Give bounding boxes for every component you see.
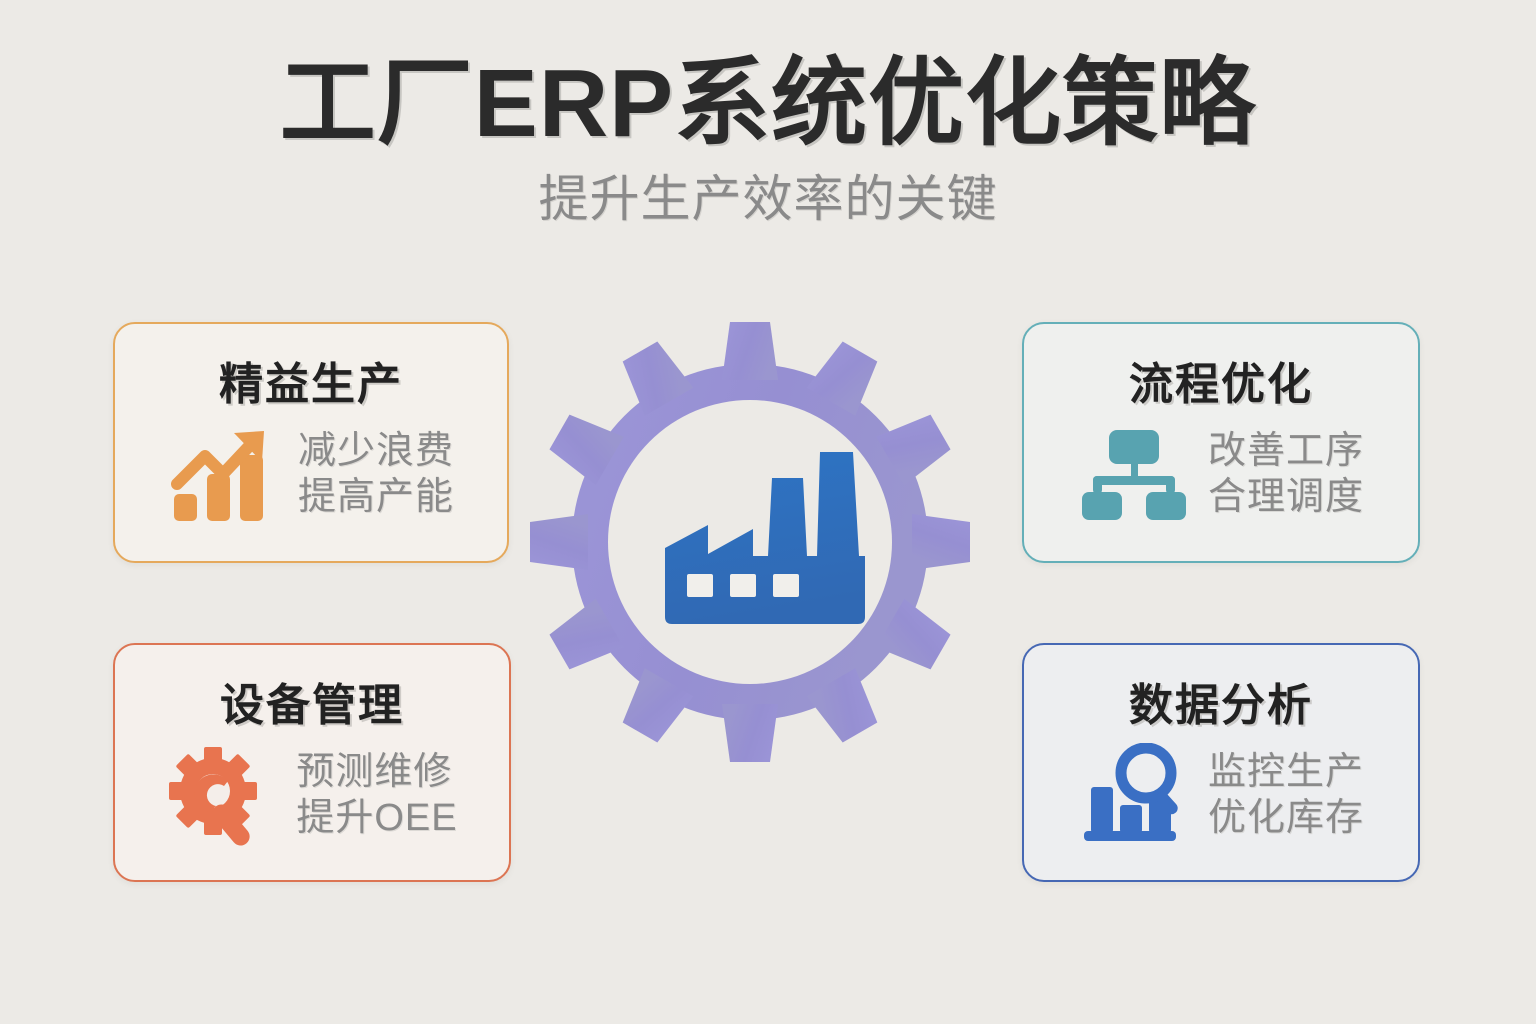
center-graphic — [520, 312, 980, 772]
header: 工厂ERP系统优化策略 提升生产效率的关键 — [0, 0, 1536, 227]
card-title-lean: 精益生产 — [115, 324, 507, 412]
card-title-equipment: 设备管理 — [115, 645, 509, 733]
card-line: 优化库存 — [1208, 795, 1364, 841]
card-title-process: 流程优化 — [1024, 324, 1418, 412]
page-title: 工厂ERP系统优化策略 — [0, 0, 1536, 156]
card-body-analytics: 监控生产 优化库存 — [1024, 733, 1418, 847]
card-lean-production[interactable]: 精益生产 减少浪费 提高产能 — [113, 322, 509, 563]
card-body-equipment: 预测维修 提升OEE — [115, 733, 509, 847]
bar-chart-growth-icon — [168, 422, 280, 526]
card-body-lean: 减少浪费 提高产能 — [115, 412, 507, 526]
card-process-optimization[interactable]: 流程优化 改善工序 合理调度 — [1022, 322, 1420, 563]
card-equipment-management[interactable]: 设备管理 — [113, 643, 511, 882]
bar-chart-magnifier-icon — [1078, 743, 1190, 847]
card-line: 提高产能 — [298, 474, 454, 520]
gear-wrench-icon — [166, 743, 278, 847]
card-line: 减少浪费 — [298, 428, 454, 474]
card-data-analytics[interactable]: 数据分析 监控生产 优化库存 — [1022, 643, 1420, 882]
page-subtitle: 提升生产效率的关键 — [0, 156, 1536, 227]
card-lines-analytics: 监控生产 优化库存 — [1208, 749, 1364, 842]
card-line: 改善工序 — [1208, 428, 1364, 474]
card-lines-equipment: 预测维修 提升OEE — [296, 749, 457, 842]
card-body-process: 改善工序 合理调度 — [1024, 412, 1418, 526]
card-line: 监控生产 — [1208, 749, 1364, 795]
card-line: 提升OEE — [296, 795, 457, 841]
card-line: 预测维修 — [296, 749, 457, 795]
card-lines-lean: 减少浪费 提高产能 — [298, 428, 454, 521]
card-lines-process: 改善工序 合理调度 — [1208, 428, 1364, 521]
card-line: 合理调度 — [1208, 474, 1364, 520]
card-title-analytics: 数据分析 — [1024, 645, 1418, 733]
hierarchy-org-chart-icon — [1078, 422, 1190, 526]
